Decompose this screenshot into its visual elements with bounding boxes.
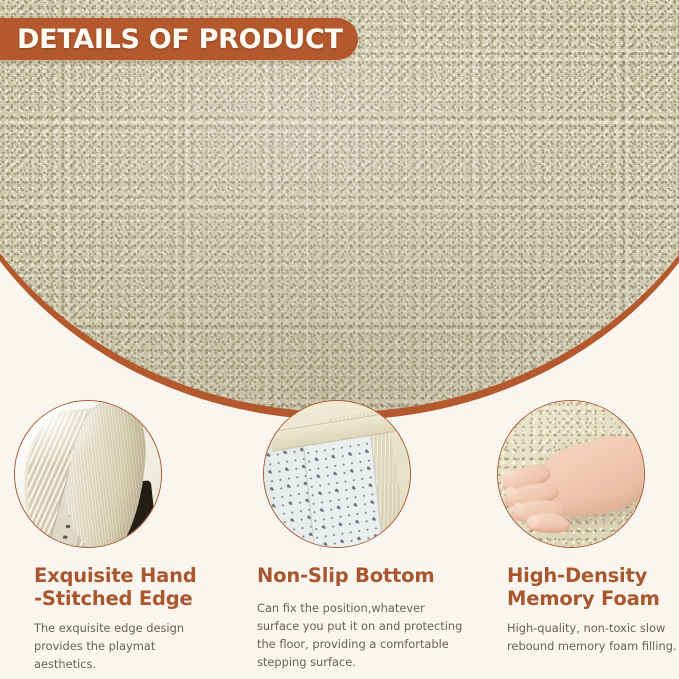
feature-description: High-quality, non-toxic slow rebound mem… (507, 619, 679, 655)
feature-caption: Exquisite Hand -Stitched Edge The exquis… (34, 564, 220, 673)
feature-title: High-Density Memory Foam (507, 564, 679, 611)
hand-pressing-foam-photo-icon (497, 400, 645, 548)
feature-description: The exquisite edge design provides the p… (34, 619, 220, 673)
feature-list: Exquisite Hand -Stitched Edge The exquis… (0, 396, 679, 679)
feature-caption: High-Density Memory Foam High-quality, n… (507, 564, 679, 655)
feature-item-non-slip-bottom: Non-Slip Bottom Can fix the position,wha… (239, 396, 465, 679)
feature-item-hand-stitched-edge: Exquisite Hand -Stitched Edge The exquis… (0, 396, 226, 679)
product-detail-page: DETAILS OF PRODUCT Exquisite Hand -Stitc… (0, 0, 679, 679)
non-slip-bottom-photo-icon (263, 400, 411, 548)
feature-title: Exquisite Hand -Stitched Edge (34, 564, 220, 611)
hero-product-photo (0, 0, 679, 430)
folded-edge-photo-icon (14, 400, 162, 548)
feature-item-memory-foam: High-Density Memory Foam High-quality, n… (482, 396, 679, 679)
feature-description: Can fix the position,whatever surface yo… (257, 599, 469, 671)
page-title: DETAILS OF PRODUCT (17, 24, 343, 55)
feature-caption: Non-Slip Bottom Can fix the position,wha… (257, 564, 469, 671)
feature-title: Non-Slip Bottom (257, 564, 469, 587)
section-title-banner: DETAILS OF PRODUCT (0, 18, 358, 60)
